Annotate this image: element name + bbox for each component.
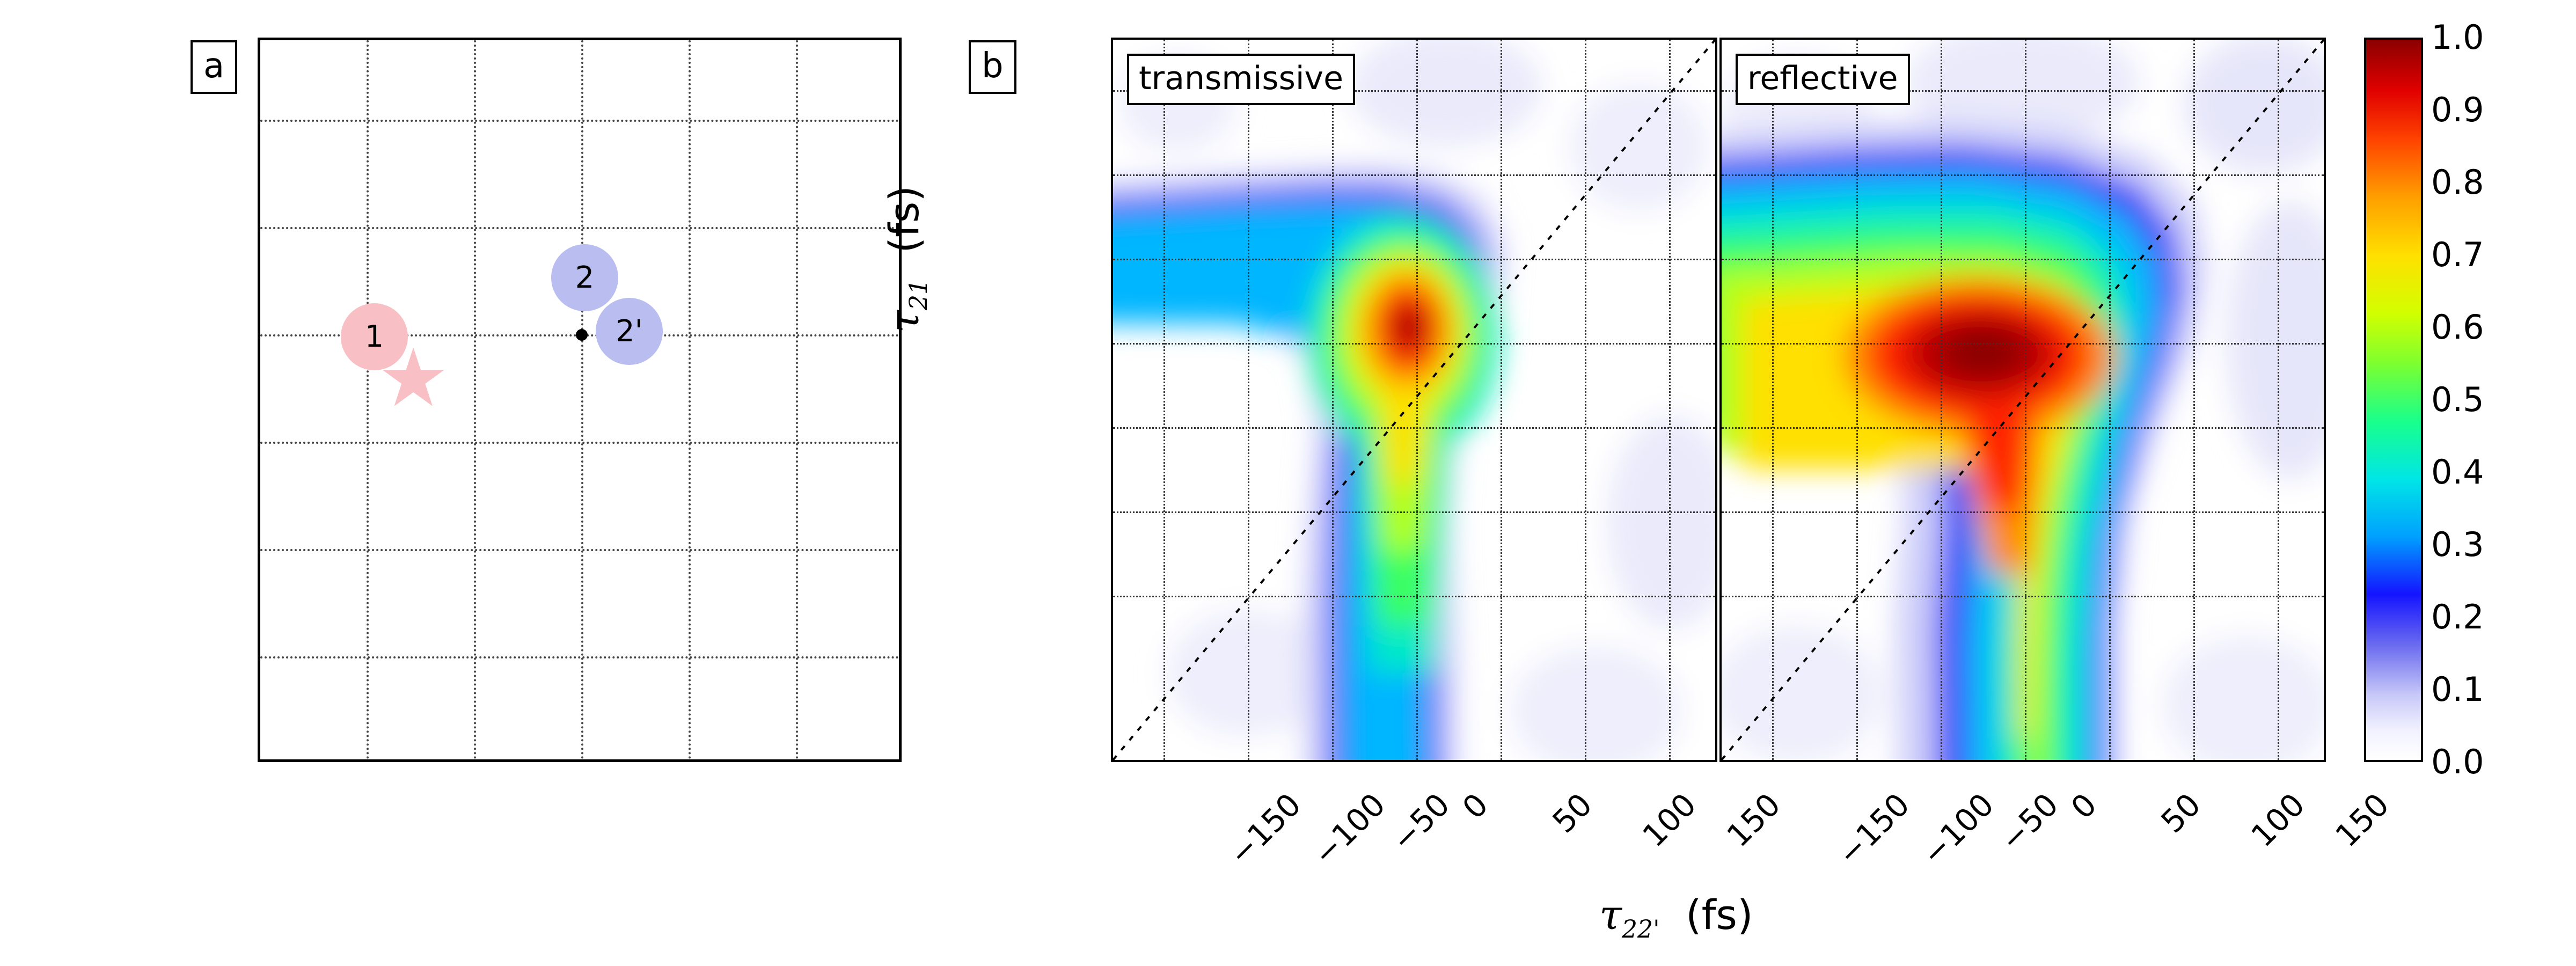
- figure-root: a 1 ★ 2 2' b: [0, 0, 2576, 966]
- colorbar-tick-0.7: 0.7: [2431, 238, 2484, 272]
- heatmap-gridline-h: [1722, 174, 2324, 176]
- panel-a-gridline-h: [260, 442, 899, 444]
- pulse-marker-2: 2: [551, 244, 618, 311]
- panel-a-gridline-h: [260, 227, 899, 229]
- colorbar-gradient: [2364, 38, 2423, 762]
- heatmap-transmissive: transmissive: [1111, 38, 1717, 762]
- heatmap-gridline-v: [1416, 40, 1418, 760]
- xtick-r-5: 100: [2244, 786, 2311, 854]
- heatmap-gridline-h: [1722, 259, 2324, 260]
- panel-a-gridline-v: [796, 40, 798, 759]
- x-axis-label-unit: (fs): [1686, 891, 1753, 939]
- heatmap-title-transmissive: transmissive: [1127, 54, 1355, 105]
- panel-a-plot: 1 ★ 2 2': [258, 38, 902, 762]
- panel-label-a: a: [191, 40, 237, 94]
- xtick-r-0: −150: [1831, 786, 1917, 873]
- heatmap-gridline-h: [1722, 427, 2324, 429]
- heatmap-gridline-v: [1772, 40, 1774, 760]
- heatmap-gridline-v: [1941, 40, 1942, 760]
- panel-a-gridline-v: [474, 40, 476, 759]
- heatmap-gridline-v: [2025, 40, 2026, 760]
- heatmap-gridline-h: [1722, 511, 2324, 513]
- panel-a-gridline-v: [367, 40, 369, 759]
- x-axis-label-sub: 22': [1622, 915, 1660, 943]
- panel-a-gridline-h: [260, 549, 899, 551]
- y-axis-label-tau: τ: [880, 310, 928, 333]
- xtick-t-5: 100: [1635, 786, 1703, 854]
- colorbar-tick-0.9: 0.9: [2431, 93, 2484, 127]
- heatmap-gridline-h: [1113, 343, 1715, 345]
- xtick-t-4: 50: [1546, 786, 1599, 840]
- panel-label-b: b: [969, 40, 1016, 94]
- heatmap-transmissive-svg: [1113, 40, 1717, 762]
- x-axis-label-tau: τ: [1599, 891, 1622, 939]
- star-icon: ★: [377, 338, 449, 419]
- xtick-t-6: 150: [1719, 786, 1787, 854]
- heatmap-gridline-v: [1585, 40, 1586, 760]
- pulse-marker-2prime: 2': [596, 298, 663, 365]
- colorbar-tick-0.2: 0.2: [2431, 601, 2484, 634]
- y-axis-label-sub: 21: [904, 279, 933, 310]
- heatmap-gridline-v: [1332, 40, 1334, 760]
- heatmap-gridline-h: [1113, 174, 1715, 176]
- heatmap-gridline-v: [1856, 40, 1858, 760]
- x-axis-label: τ22' (fs): [1599, 891, 1753, 943]
- y-axis-label-unit: (fs): [880, 186, 928, 253]
- panel-a-gridline-v: [581, 40, 583, 759]
- colorbar-tick-1.0: 1.0: [2431, 21, 2484, 54]
- xtick-r-4: 50: [2154, 786, 2208, 840]
- panel-a-gridline-h: [260, 120, 899, 122]
- xtick-t-2: −50: [1385, 786, 1457, 859]
- heatmap-reflective: reflective: [1719, 38, 2326, 762]
- colorbar-tick-0.3: 0.3: [2431, 528, 2484, 561]
- xtick-r-1: −100: [1915, 786, 2001, 873]
- heatmap-gridline-h: [1722, 343, 2324, 345]
- panel-a-gridline-h: [260, 656, 899, 658]
- heatmap-gridline-v: [2109, 40, 2111, 760]
- heatmap-gridline-v: [1669, 40, 1671, 760]
- colorbar-tick-0.8: 0.8: [2431, 166, 2484, 199]
- heatmap-gridline-v: [2193, 40, 2195, 760]
- heatmap-gridline-h: [1113, 259, 1715, 260]
- xtick-r-3: 0: [2064, 786, 2104, 826]
- heatmap-transmissive-surface: [1113, 40, 1715, 760]
- xtick-t-3: 0: [1455, 786, 1495, 826]
- colorbar: 1.0 0.9 0.8 0.7 0.6 0.5 0.4 0.3 0.2 0.1 …: [2364, 38, 2423, 762]
- xtick-r-6: 150: [2328, 786, 2396, 854]
- colorbar-tick-0.1: 0.1: [2431, 673, 2484, 706]
- colorbar-tick-0.0: 0.0: [2431, 745, 2484, 779]
- y-axis-label: τ21 (fs): [880, 186, 933, 333]
- heatmap-gridline-v: [2278, 40, 2279, 760]
- heatmap-reflective-svg: [1722, 40, 2326, 762]
- xtick-r-2: −50: [1993, 786, 2066, 859]
- heatmap-gridline-h: [1113, 596, 1715, 597]
- heatmap-gridline-h: [1113, 427, 1715, 429]
- colorbar-tick-0.6: 0.6: [2431, 311, 2484, 344]
- panel-a-gridline-v: [689, 40, 691, 759]
- heatmap-reflective-surface: [1722, 40, 2324, 760]
- xtick-t-0: −150: [1222, 786, 1308, 873]
- heatmap-title-reflective: reflective: [1736, 54, 1910, 105]
- origin-dot: [576, 329, 588, 341]
- heatmap-gridline-v: [1501, 40, 1502, 760]
- pulse-label-2prime: 2': [616, 314, 643, 349]
- heatmap-gridline-v: [1163, 40, 1165, 760]
- heatmap-gridline-h: [1113, 511, 1715, 513]
- colorbar-tick-0.5: 0.5: [2431, 383, 2484, 416]
- xtick-t-1: −100: [1306, 786, 1393, 873]
- pulse-label-2: 2: [575, 260, 595, 295]
- colorbar-tick-0.4: 0.4: [2431, 456, 2484, 489]
- heatmap-gridline-v: [1248, 40, 1249, 760]
- heatmap-gridline-h: [1722, 596, 2324, 597]
